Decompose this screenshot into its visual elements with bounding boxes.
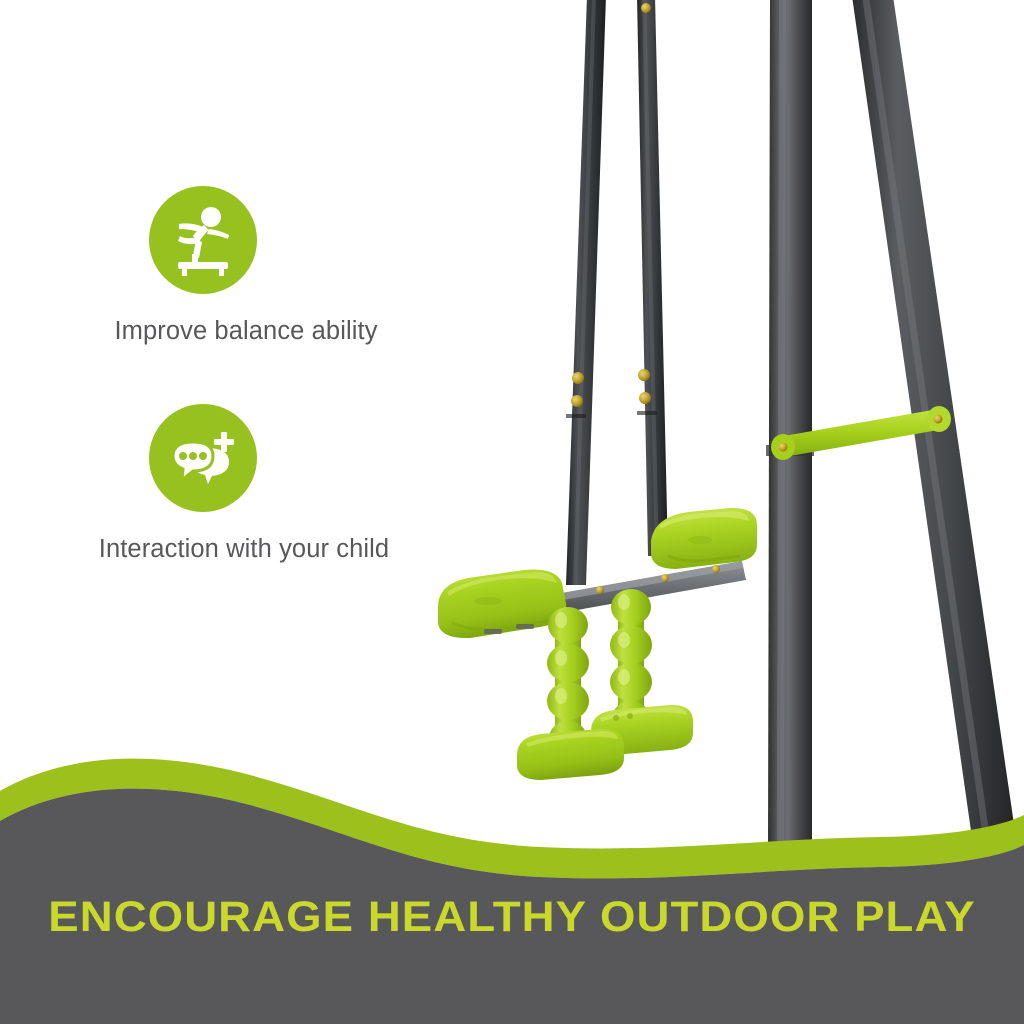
feature-label-interaction: Interaction with your child — [44, 534, 444, 566]
feature-item-balance: Improve balance ability — [44, 186, 444, 348]
feature-list: Improve balance ability — [44, 186, 444, 622]
chat-bubbles-plus-icon — [149, 404, 257, 512]
feature-label-balance: Improve balance ability — [44, 316, 444, 348]
bottom-banner: ENCOURAGE HEALTHY OUTDOOR PLAY — [0, 735, 1024, 1024]
wave-divider — [0, 735, 1024, 1024]
interaction-icon-wrapper — [149, 404, 257, 512]
product-feature-banner: Improve balance ability — [0, 0, 1024, 1024]
swing-rod-right — [637, 0, 668, 556]
feature-item-interaction: Interaction with your child — [44, 404, 444, 566]
frame-leg-vertical — [766, 0, 814, 848]
balance-icon-wrapper — [149, 186, 257, 294]
balance-beam-figure-icon — [149, 186, 257, 294]
glider-seat-near — [438, 570, 566, 639]
banner-headline: ENCOURAGE HEALTHY OUTDOOR PLAY — [0, 896, 1024, 939]
swing-rod-left — [566, 0, 606, 585]
